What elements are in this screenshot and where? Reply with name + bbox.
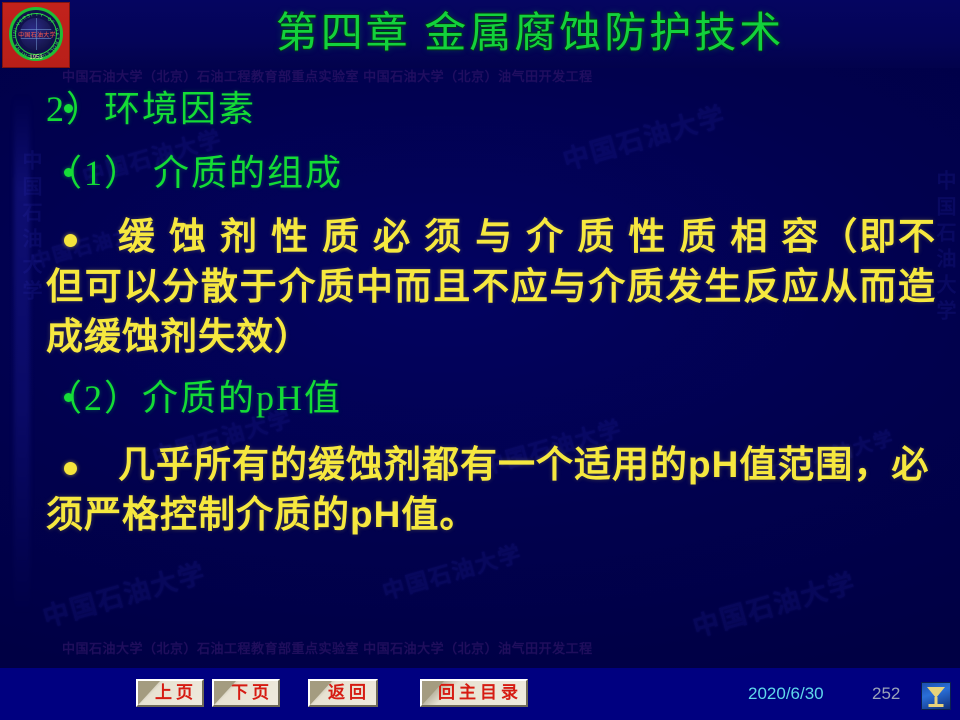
title-bar: 第四章 金属腐蚀防护技术 [0,0,960,68]
trophy-icon[interactable] [921,682,951,710]
bullet-item-1: 2）环境因素 [46,86,936,132]
bullet-item-5-text: 几乎所有的缓蚀剂都有一个适用的pH值范围，必须严格控制介质的pH值。 [46,440,936,540]
bullet-marker-green [64,168,73,177]
bullet-item-5: 几乎所有的缓蚀剂都有一个适用的pH值范围，必须严格控制介质的pH值。 [46,440,936,540]
date-label: 2020/6/30 [748,684,824,704]
bullet-item-2-text: （1） 介质的组成 [46,150,936,196]
bullet-marker-green [64,393,73,402]
page-number-label: 252 [872,684,900,704]
bullet-item-4-text: （2）介质的pH值 [46,375,936,421]
slide-canvas: 中国石油大学 中国石油大学 中国石油大学 中国石油大学 中国石油大学 中国石油大… [0,0,960,720]
next-page-button[interactable]: 下页 [212,679,280,707]
bullet-item-3: 缓 蚀 剂 性 质 必 须 与 介 质 性 质 相 容（即不但可以分散于介质中而… [46,212,936,362]
logo-ring-text: CHINA UNIVERSITY OF PETROLEUM [7,7,65,65]
bullet-item-2: （1） 介质的组成 [46,150,936,196]
main-menu-button[interactable]: 回主目录 [420,679,528,707]
slide-body: 2）环境因素 （1） 介质的组成 缓 蚀 剂 性 质 必 须 与 介 质 性 质… [0,72,960,652]
bullet-item-3-text: 缓 蚀 剂 性 质 必 须 与 介 质 性 质 相 容（即不但可以分散于介质中而… [46,212,936,362]
university-logo: 中国石油大学 1953 CHINA UNIVERSITY OF PETROLEU… [2,2,70,68]
previous-page-button[interactable]: 上页 [136,679,204,707]
bullet-item-1-text: 2）环境因素 [46,86,936,132]
return-button[interactable]: 返回 [308,679,378,707]
bullet-marker-green [64,104,73,113]
footer-bar: 上页 下页 返回 回主目录 2020/6/30 252 [0,668,960,720]
bullet-marker-yellow [64,234,77,247]
page-title: 第四章 金属腐蚀防护技术 [120,8,940,60]
bullet-marker-yellow [64,462,77,475]
bullet-item-4: （2）介质的pH值 [46,375,936,421]
